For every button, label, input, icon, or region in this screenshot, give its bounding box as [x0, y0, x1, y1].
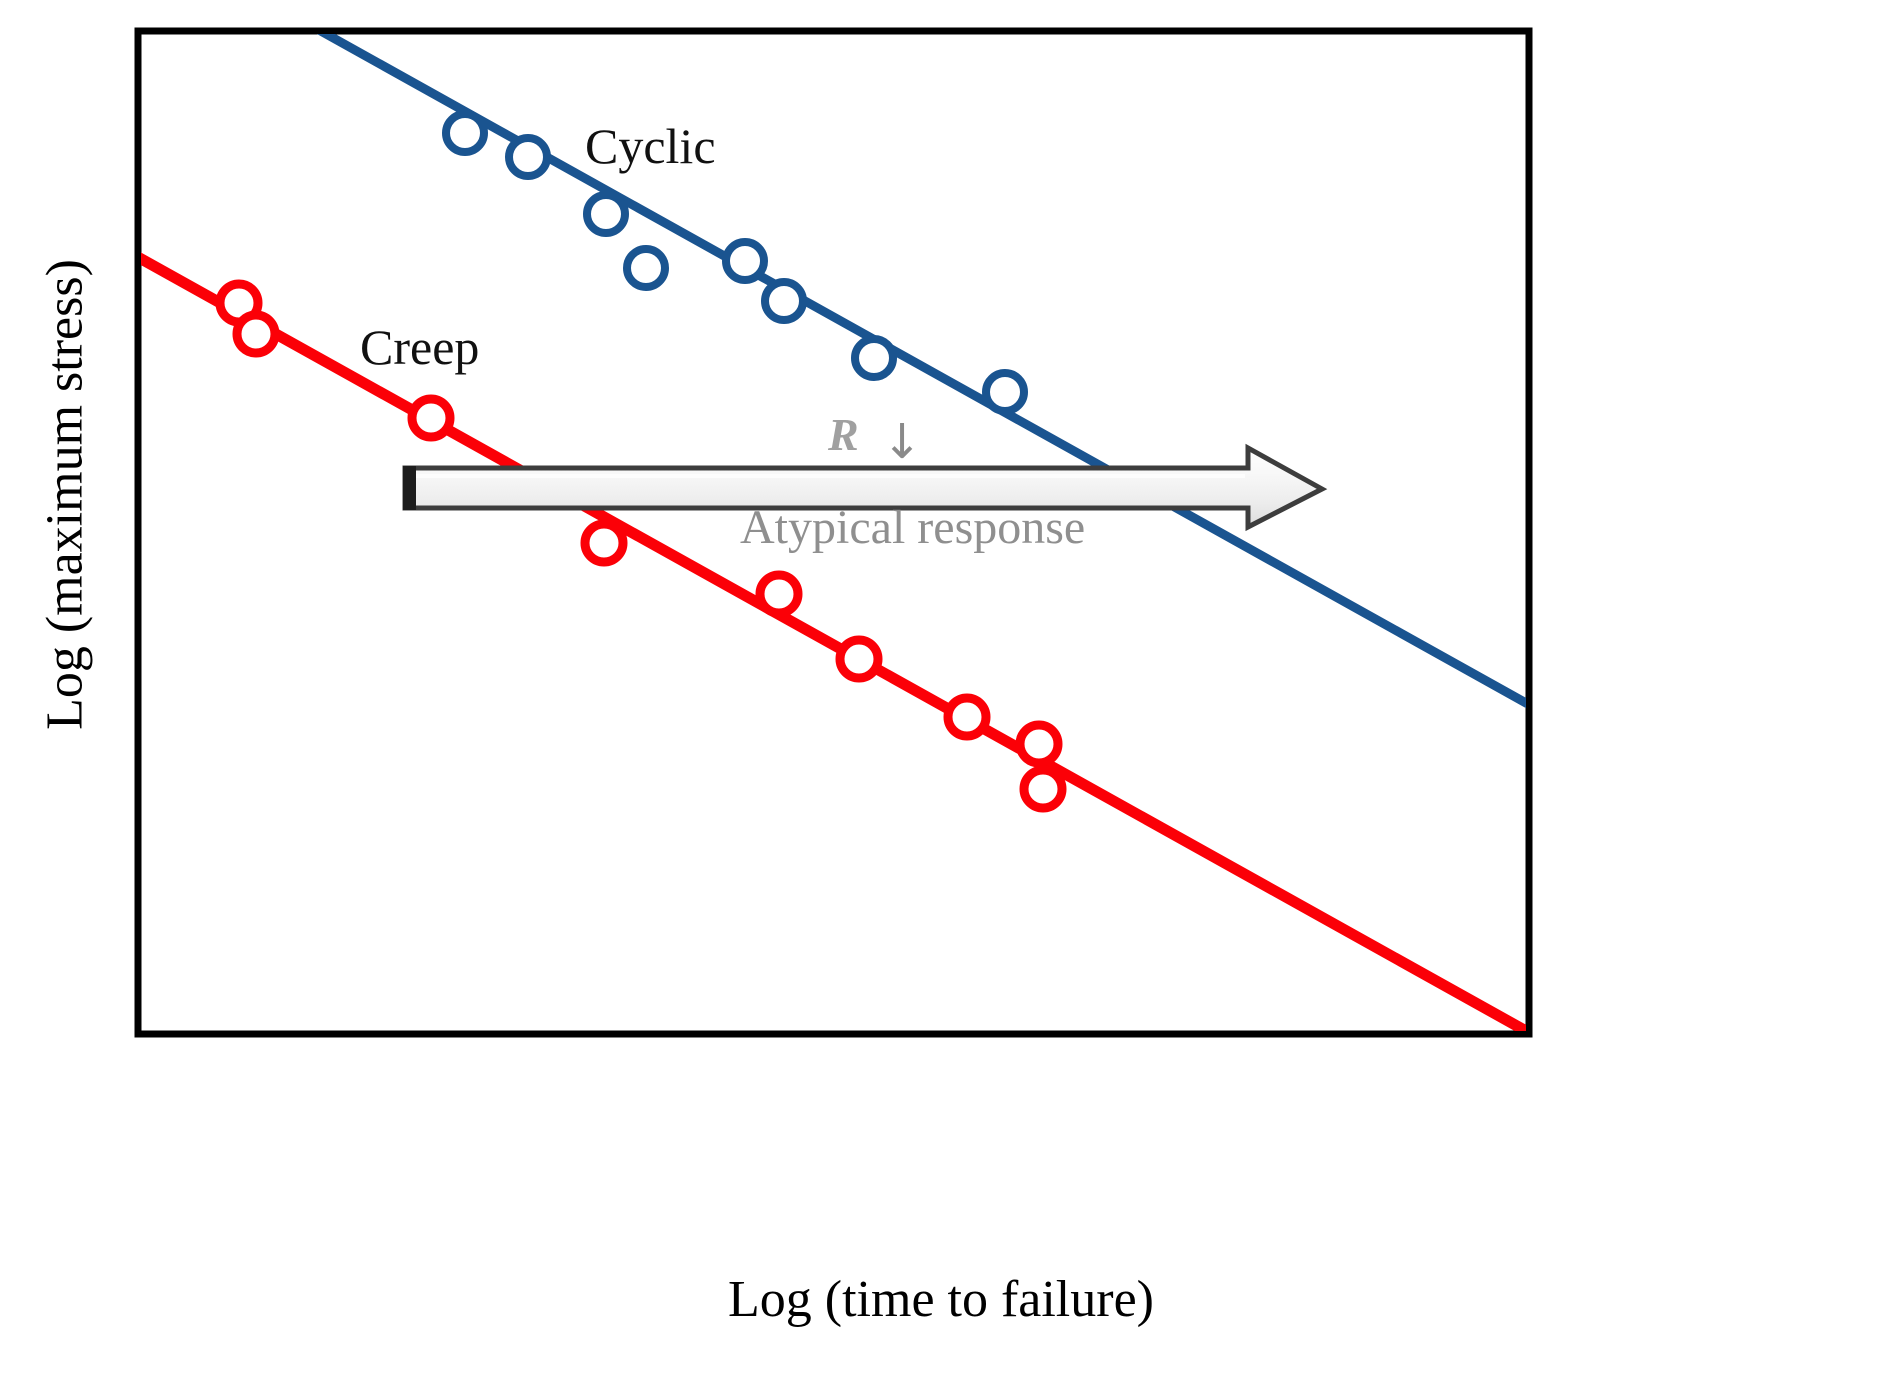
- data-point: [760, 575, 798, 613]
- data-point: [765, 282, 803, 320]
- data-point: [237, 315, 275, 353]
- data-point: [986, 373, 1024, 411]
- data-point: [627, 249, 665, 287]
- annotation-r-symbol: R: [828, 408, 859, 461]
- data-point: [840, 640, 878, 678]
- data-point: [726, 242, 764, 280]
- x-axis-label: Log (time to failure): [0, 1270, 1882, 1329]
- data-point: [587, 195, 625, 233]
- annotation-atypical-response: Atypical response: [740, 500, 1085, 555]
- data-point: [509, 138, 547, 176]
- y-axis-label: Log (maximum stress): [36, 195, 95, 795]
- data-point: [585, 524, 623, 562]
- arrow-tail-cap: [403, 466, 416, 510]
- data-point: [855, 339, 893, 377]
- data-point: [412, 399, 450, 437]
- annotation-down-arrow-icon: ↓: [882, 414, 922, 470]
- series-label-cyclic: Cyclic: [585, 117, 716, 175]
- figure-chart-container: Cyclic Creep R ↓ Atypical response Log (…: [0, 0, 1882, 1373]
- data-point: [1024, 770, 1062, 808]
- data-point: [948, 698, 986, 736]
- data-point: [446, 114, 484, 152]
- chart-svg: [0, 0, 1882, 1373]
- data-point: [1020, 725, 1058, 763]
- series-label-creep: Creep: [360, 318, 479, 376]
